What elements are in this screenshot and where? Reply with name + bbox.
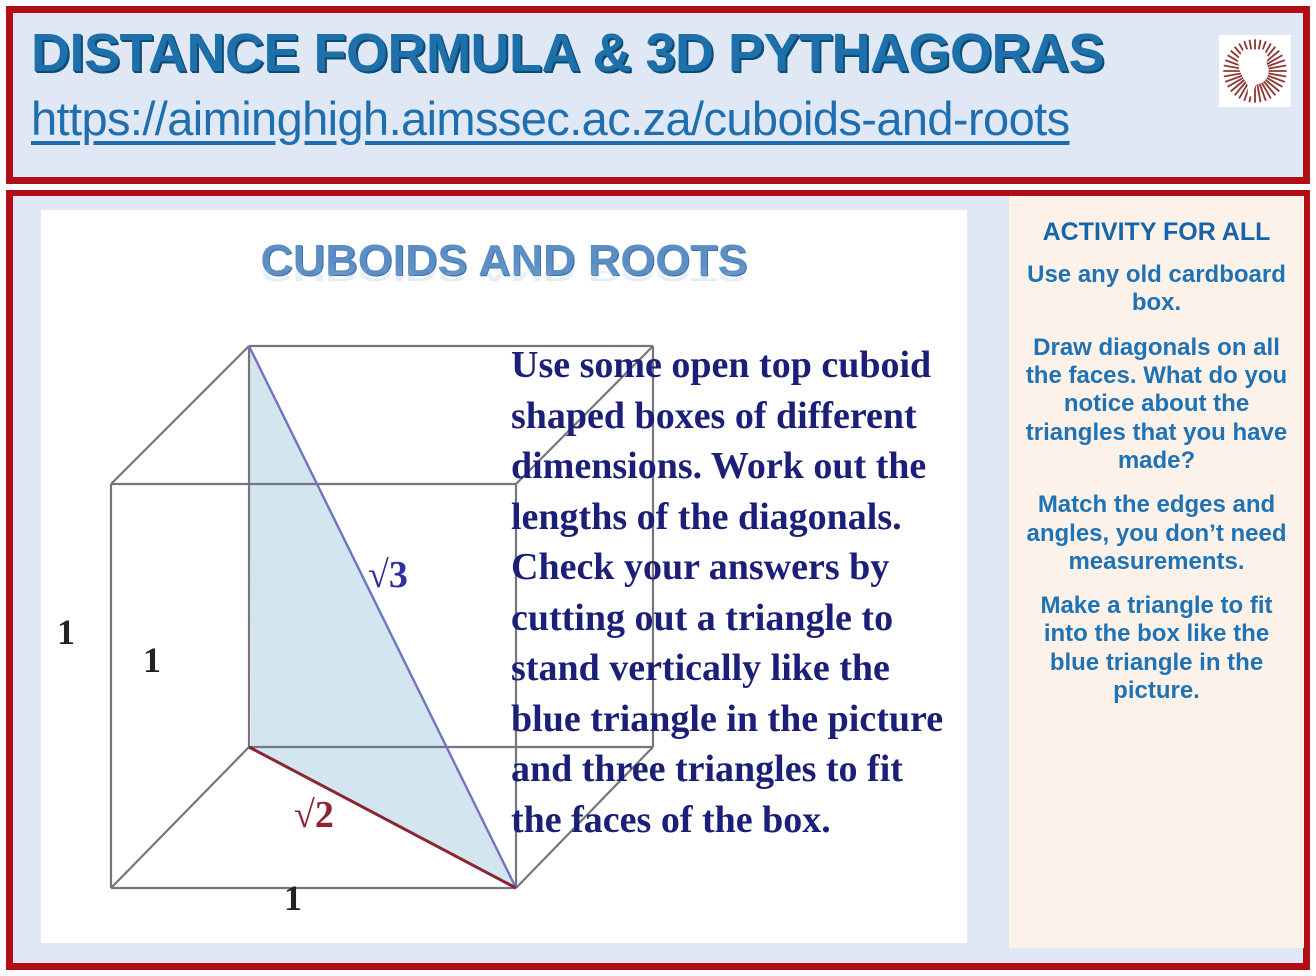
sidebar-paragraph-3: Match the edges and angles, you don’t ne… [1023,491,1290,576]
header-inner: DISTANCE FORMULA & 3D PYTHAGORAS https:/… [13,13,1303,177]
resource-url-link[interactable]: https://aiminghigh.aimssec.ac.za/cuboids… [31,91,1069,146]
label-depth: 1 [143,640,161,680]
body-inner: CUBOIDS AND ROOTS CUBOIDS AND ROOTS [13,196,1303,963]
label-space-diagonal: √3 [368,554,408,596]
diagram-panel: CUBOIDS AND ROOTS CUBOIDS AND ROOTS [41,210,967,943]
activity-sidebar: ACTIVITY FOR ALL Use any old cardboard b… [1009,196,1304,948]
diagram-body-text: Use some open top cuboid shaped boxes of… [511,340,961,845]
sidebar-paragraph-4: Make a triangle to fit into the box like… [1023,592,1290,705]
header-banner: DISTANCE FORMULA & 3D PYTHAGORAS https:/… [6,6,1310,184]
aimssec-africa-logo-icon [1219,35,1291,107]
label-height: 1 [57,612,75,652]
sidebar-title: ACTIVITY FOR ALL [1023,218,1290,247]
sidebar-paragraph-2: Draw diagonals on all the faces. What do… [1023,334,1290,476]
page-title: DISTANCE FORMULA & 3D PYTHAGORAS [31,25,1261,82]
poster-root: DISTANCE FORMULA & 3D PYTHAGORAS https:/… [0,0,1316,976]
label-width: 1 [284,878,302,918]
label-face-diagonal: √2 [294,794,334,836]
sidebar-paragraph-1: Use any old cardboard box. [1023,261,1290,318]
body-panel: CUBOIDS AND ROOTS CUBOIDS AND ROOTS [6,190,1310,970]
